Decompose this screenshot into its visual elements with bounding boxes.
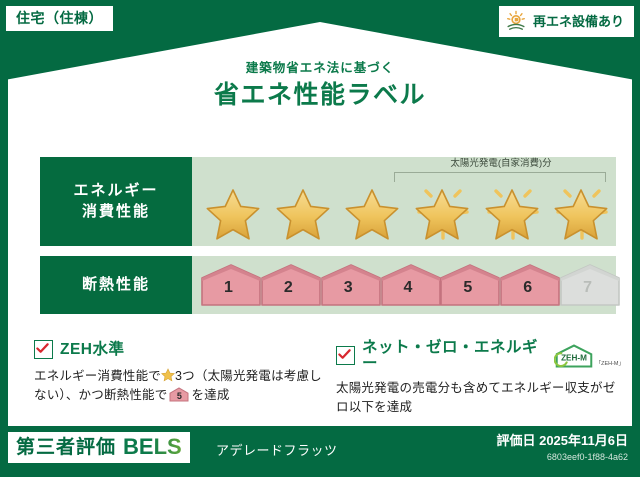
evaluation-date: 評価日 2025年11月6日 [496,434,628,447]
criterion-net-zero-title: ネット・ゼロ・エネルギー [362,340,545,371]
insulation-level-value: 2 [284,280,293,307]
energy-label-line2: 消費性能 [82,202,150,222]
bels-logo: 第三者評価 BELS [8,432,190,463]
sun-solar-icon [505,10,527,32]
zeh-text-part3: を達成 [191,388,229,402]
insulation-level-value: 3 [344,280,353,307]
criterion-net-zero-header: ネット・ゼロ・エネルギー ZEH-M 「ZEH-M」 [336,340,624,371]
energy-row-body: 太陽光発電(自家消費)分 [192,157,616,246]
zeh-m-logo-caption: 「ZEH-M」 [596,359,624,369]
insulation-level-value: 5 [463,280,472,307]
star-icon [339,181,407,241]
insulation-level-value: 6 [523,280,532,307]
insulation-row-label: 断熱性能 [40,256,192,314]
insulation-level-value: 7 [583,280,592,307]
solar-annotation-text: 太陽光発電(自家消費)分 [394,159,608,169]
check-icon [336,346,355,365]
svg-text:ZEH-M: ZEH-M [561,353,587,362]
criteria-section: ZEH水準 エネルギー消費性能で3つ（太陽光発電は考慮しない）、かつ断熱性能で5… [34,340,624,418]
insulation-row-body: 1234567 [192,256,616,314]
insulation-label: 断熱性能 [82,275,150,295]
star-icon [409,181,477,241]
insulation-level-badge: 5 [439,263,496,307]
zeh-text-part1: エネルギー消費性能で [34,369,161,383]
insulation-level-badge: 3 [320,263,377,307]
zeh-m-logo: ZEH-M 「ZEH-M」 [554,343,624,369]
insulation-level-badge: 1 [200,263,257,307]
title-block: 建築物省エネ法に基づく 省エネ性能ラベル [8,62,632,108]
criterion-net-zero-text: 太陽光発電の売電分も含めてエネルギー収支がゼロ以下を達成 [336,379,624,418]
insulation-level-value: 1 [224,280,233,307]
insulation-level-badge: 7 [559,263,616,307]
star-icon [161,368,175,382]
footer: 第三者評価 BELS アデレードフラッツ 評価日 2025年11月6日 6803… [0,426,640,477]
rating-rows: エネルギー 消費性能 太陽光発電(自家消費)分 断熱性能 1234567 [40,157,616,324]
insulation-level-badge: 6 [499,263,556,307]
bels-jp-label: 第三者評価 [16,438,116,457]
check-icon [34,340,53,359]
criterion-zeh-text: エネルギー消費性能で3つ（太陽光発電は考慮しない）、かつ断熱性能で5を達成 [34,367,322,406]
insulation-level-value: 4 [404,280,413,307]
label-card: 建築物省エネ法に基づく 省エネ性能ラベル エネルギー 消費性能 太陽光発電(自家… [8,22,632,426]
criterion-net-zero: ネット・ゼロ・エネルギー ZEH-M 「ZEH-M」 太陽光発電の売電分も含めて… [336,340,624,418]
energy-performance-row: エネルギー 消費性能 太陽光発電(自家消費)分 [40,157,616,246]
evaluation-id: 6803eef0-1f88-4a62 [547,453,628,462]
energy-row-label: エネルギー 消費性能 [40,157,192,246]
energy-performance-label: 住宅（住棟） 再エネ設備あり 建築物省エネ法に基づく 省 [0,0,640,477]
star-icon [270,181,338,241]
insulation-level-badge: 4 [380,263,437,307]
zeh-badge-value: 5 [169,392,189,401]
insulation-performance-row: 断熱性能 1234567 [40,256,616,314]
page-title: 省エネ性能ラベル [8,83,632,108]
house-type-tag: 住宅（住棟） [6,6,113,31]
bels-en-label: BELS [123,436,182,458]
renewable-equipment-badge: 再エネ設備あり [499,6,634,37]
insulation-level-badge: 2 [260,263,317,307]
building-name: アデレードフラッツ [216,444,338,457]
criterion-zeh-header: ZEH水準 [34,340,322,359]
renewable-badge-label: 再エネ設備あり [533,15,624,28]
criterion-zeh: ZEH水準 エネルギー消費性能で3つ（太陽光発電は考慮しない）、かつ断熱性能で5… [34,340,322,418]
star-icon [479,181,547,241]
title-subtitle: 建築物省エネ法に基づく [8,62,632,75]
criterion-zeh-title: ZEH水準 [60,342,125,358]
energy-label-line1: エネルギー [73,181,158,201]
star-icon [548,181,616,241]
star-rating [192,181,616,241]
insulation-scale: 1234567 [192,256,616,314]
insulation-badge-inline: 5 [169,387,189,402]
star-icon [200,181,268,241]
